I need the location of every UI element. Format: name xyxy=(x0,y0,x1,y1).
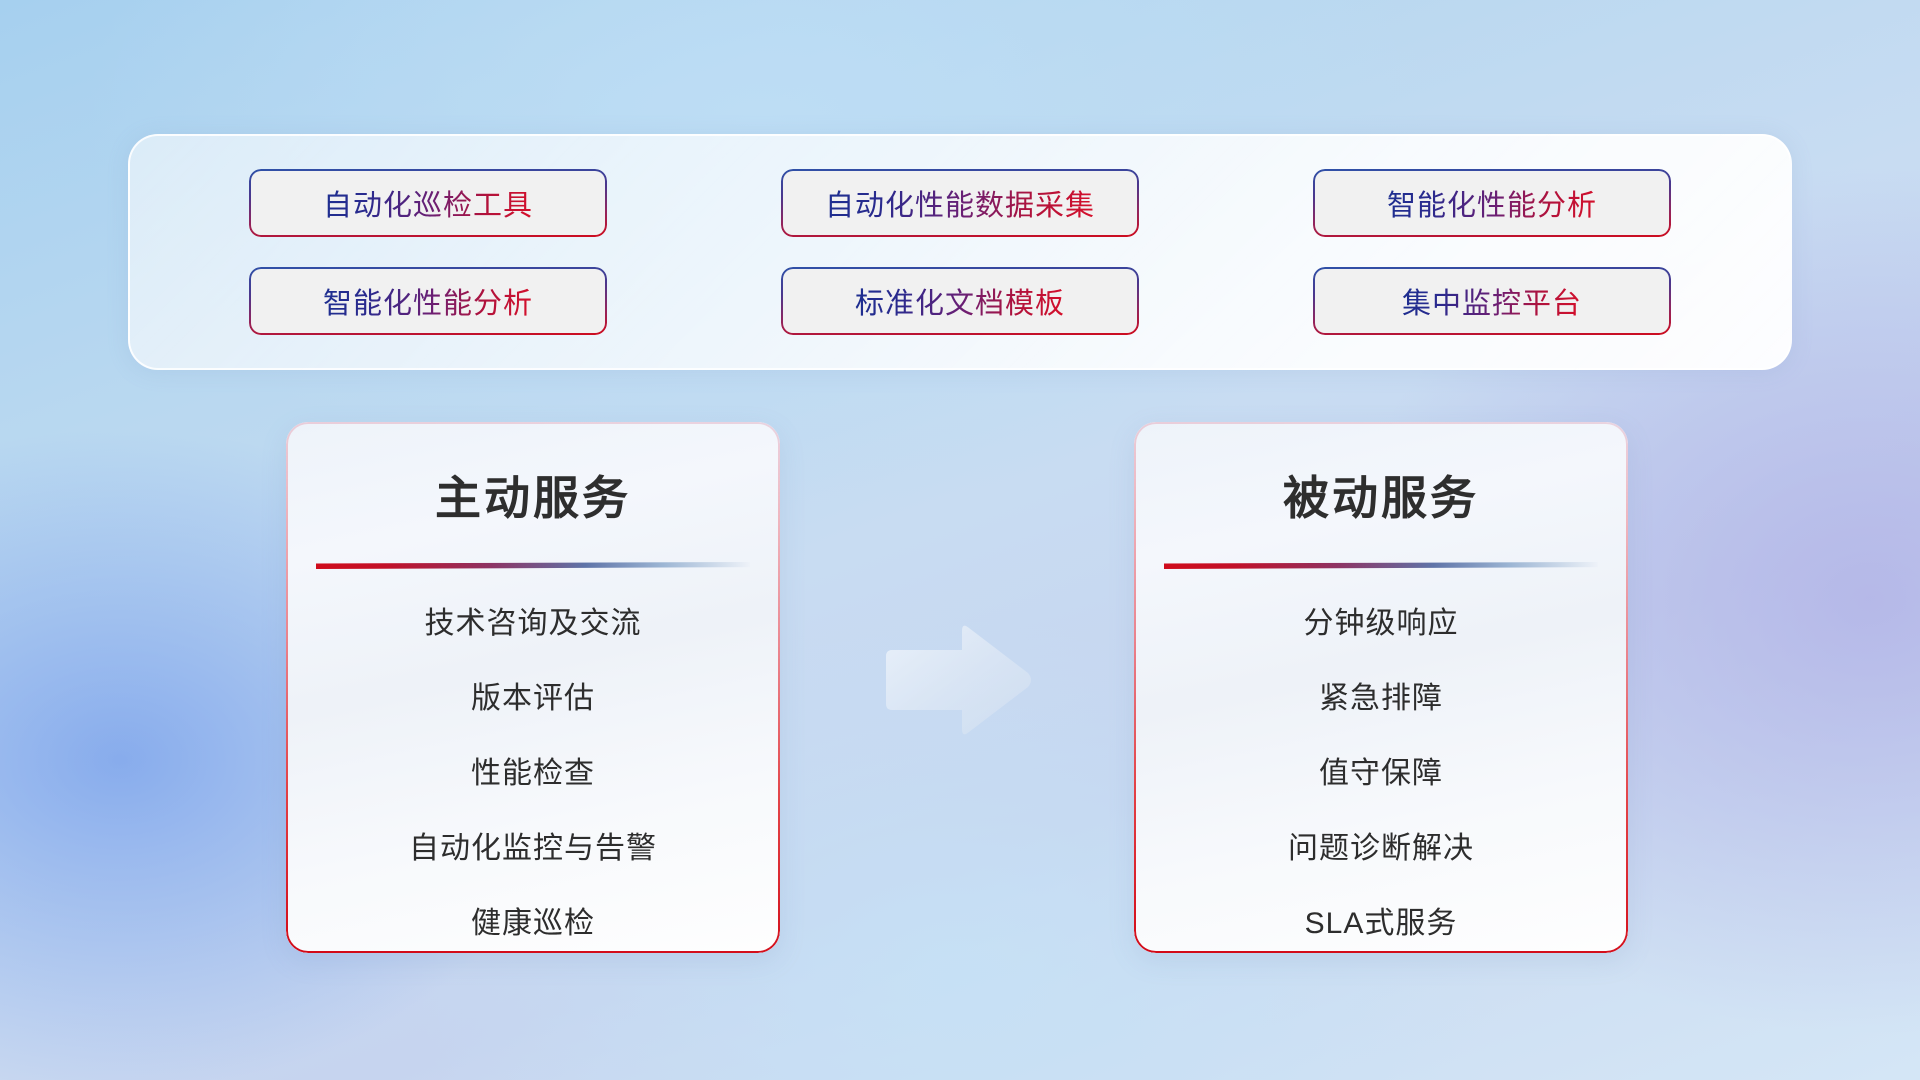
service-item: 性能检查 xyxy=(286,759,780,789)
service-item: SLA式服务 xyxy=(1134,909,1628,939)
service-item-list: 分钟级响应 紧急排障 值守保障 问题诊断解决 SLA式服务 xyxy=(1134,609,1628,939)
capability-pill[interactable]: 智能化性能分析 xyxy=(1313,169,1671,237)
service-item: 紧急排障 xyxy=(1134,684,1628,714)
capability-panel: 自动化巡检工具 自动化性能数据采集 智能化性能分析 智能化性能分析 标准化文档模… xyxy=(128,134,1792,370)
capability-pill-label: 自动化巡检工具 xyxy=(323,182,533,224)
capability-pill[interactable]: 自动化巡检工具 xyxy=(249,169,607,237)
card-divider xyxy=(1164,562,1598,569)
card-title: 主动服务 xyxy=(286,462,780,528)
capability-pill-label: 集中监控平台 xyxy=(1402,280,1582,322)
right-arrow-icon xyxy=(876,620,1036,740)
card-divider xyxy=(316,562,750,569)
capability-pill[interactable]: 标准化文档模板 xyxy=(781,267,1139,335)
capability-pill-label: 智能化性能分析 xyxy=(323,280,533,322)
service-item: 健康巡检 xyxy=(286,909,780,939)
service-item-list: 技术咨询及交流 版本评估 性能检查 自动化监控与告警 健康巡检 xyxy=(286,609,780,939)
capability-pill[interactable]: 智能化性能分析 xyxy=(249,267,607,335)
service-item: 技术咨询及交流 xyxy=(286,609,780,639)
service-card-proactive: 主动服务 技术咨询及交流 版本评估 性能检查 自动化监控与告警 健康巡检 xyxy=(286,422,780,953)
capability-pill-label: 自动化性能数据采集 xyxy=(825,182,1095,224)
service-item: 自动化监控与告警 xyxy=(286,834,780,864)
service-card-reactive: 被动服务 分钟级响应 紧急排障 值守保障 问题诊断解决 SLA式服务 xyxy=(1134,422,1628,953)
service-item: 值守保障 xyxy=(1134,759,1628,789)
capability-pill-label: 智能化性能分析 xyxy=(1387,182,1597,224)
capability-pill[interactable]: 自动化性能数据采集 xyxy=(781,169,1139,237)
service-item: 分钟级响应 xyxy=(1134,609,1628,639)
card-title: 被动服务 xyxy=(1134,462,1628,528)
capability-pill-label: 标准化文档模板 xyxy=(855,280,1065,322)
slide-canvas: 自动化巡检工具 自动化性能数据采集 智能化性能分析 智能化性能分析 标准化文档模… xyxy=(0,0,1920,1080)
service-item: 问题诊断解决 xyxy=(1134,834,1628,864)
capability-pill[interactable]: 集中监控平台 xyxy=(1313,267,1671,335)
service-item: 版本评估 xyxy=(286,684,780,714)
